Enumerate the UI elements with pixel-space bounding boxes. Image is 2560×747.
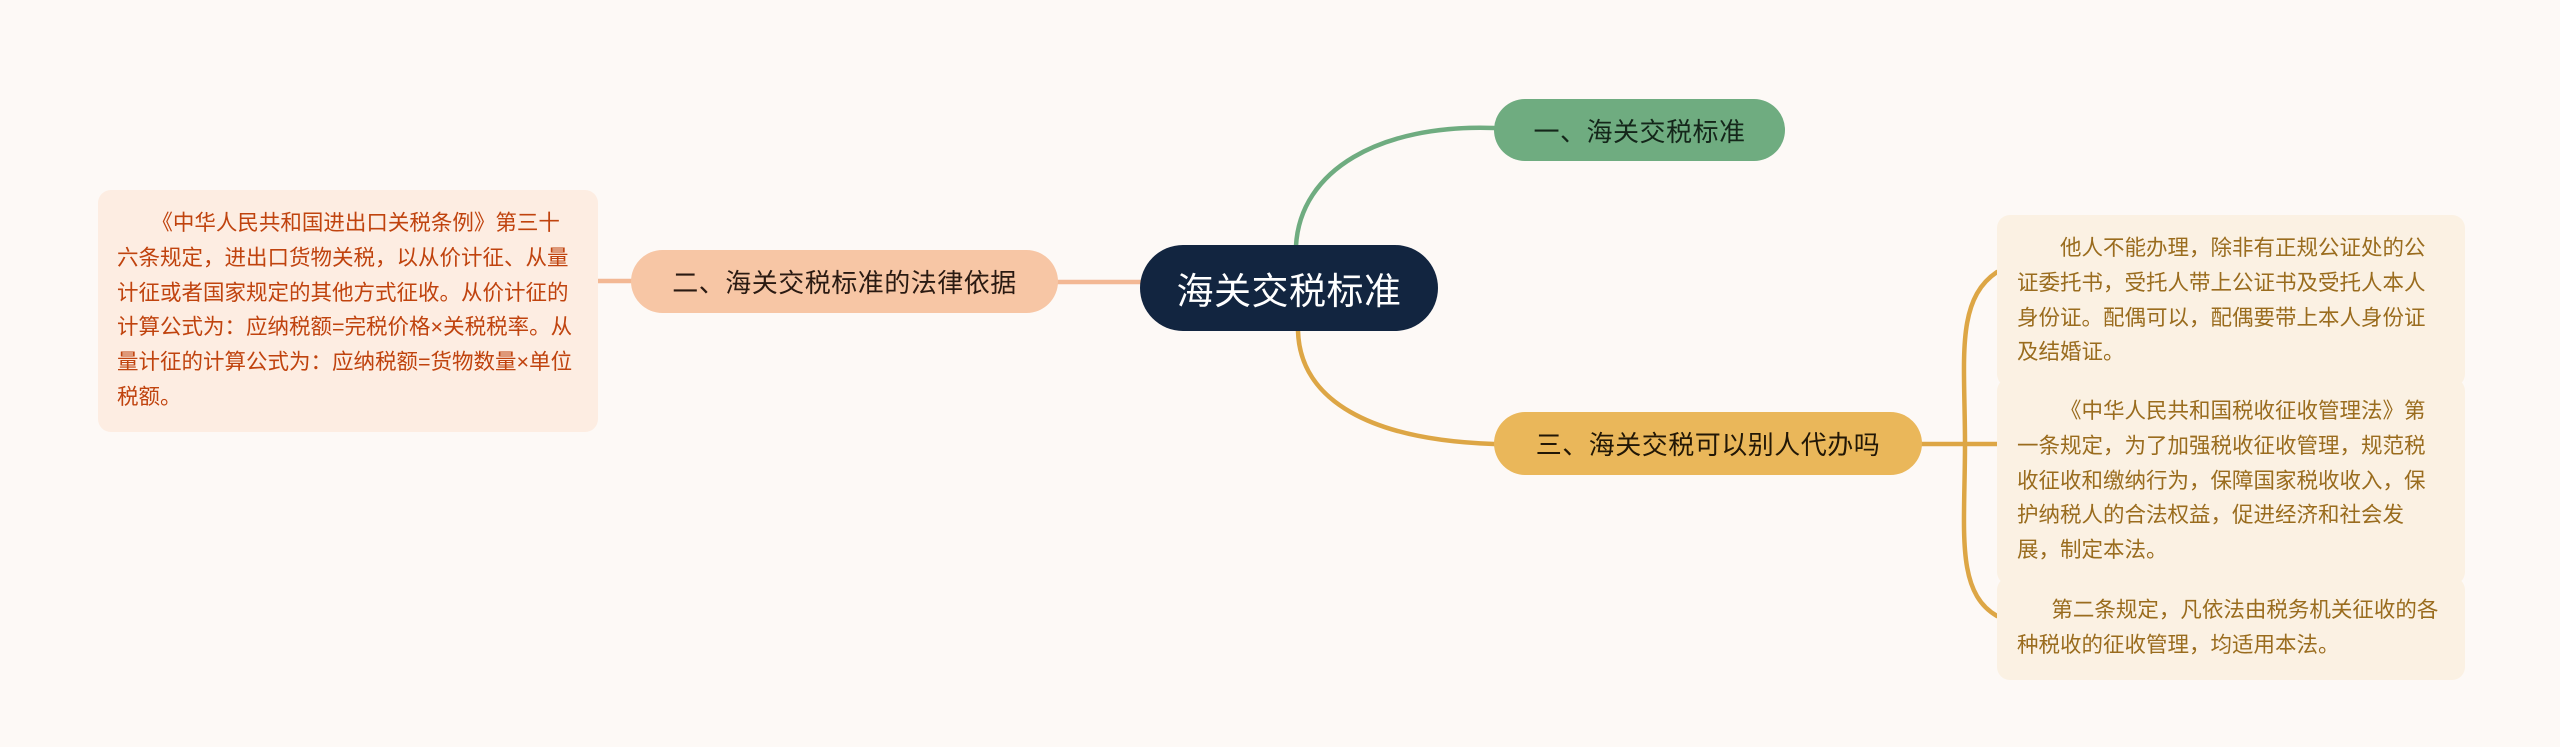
connector-branch3-to-leaf1	[1964, 272, 1997, 444]
branch-node-1[interactable]: 一、海关交税标准	[1494, 99, 1785, 161]
leaf-card-branch3-3[interactable]: 第二条规定，凡依法由税务机关征收的各种税收的征收管理，均适用本法。	[1997, 577, 2465, 680]
connector-root-to-branch3	[1298, 331, 1494, 444]
leaf-card-branch2-1[interactable]: 《中华人民共和国进出口关税条例》第三十六条规定，进出口货物关税，以从价计征、从量…	[98, 190, 598, 432]
leaf-card-branch3-1[interactable]: 他人不能办理，除非有正规公证处的公证委托书，受托人带上公证书及受托人本人身份证。…	[1997, 215, 2465, 387]
branch-node-3[interactable]: 三、海关交税可以别人代办吗	[1494, 412, 1922, 475]
mindmap-canvas: 海关交税标准 一、海关交税标准 二、海关交税标准的法律依据 三、海关交税可以别人…	[0, 0, 2560, 747]
branch-node-2[interactable]: 二、海关交税标准的法律依据	[631, 250, 1058, 313]
leaf-card-branch3-2[interactable]: 《中华人民共和国税收征收管理法》第一条规定，为了加强税收征收管理，规范税收征收和…	[1997, 378, 2465, 585]
connector-branch3-to-leaf3	[1964, 444, 1997, 616]
connector-root-to-branch1	[1296, 128, 1494, 246]
root-node[interactable]: 海关交税标准	[1140, 245, 1438, 331]
